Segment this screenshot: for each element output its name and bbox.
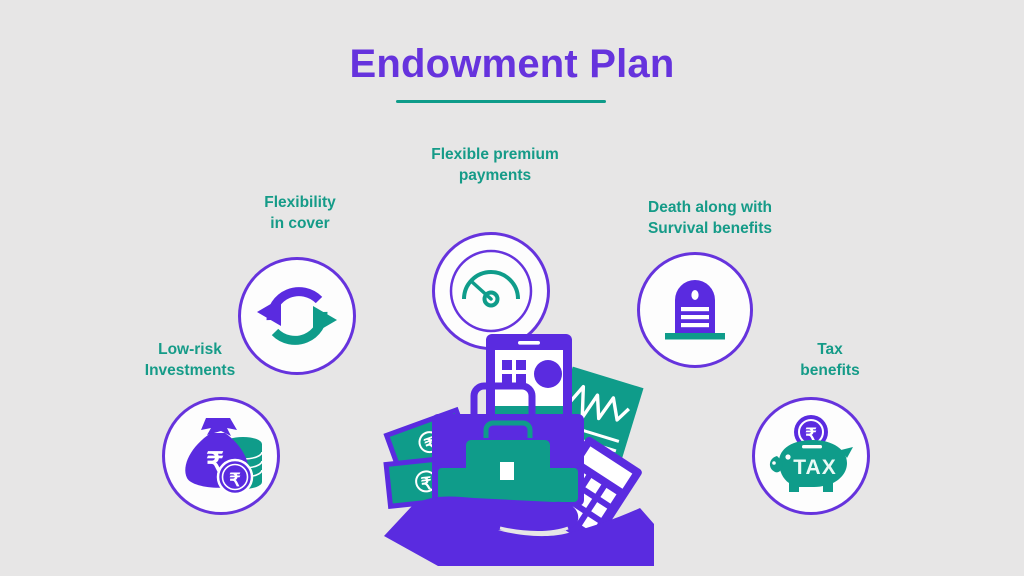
- money-bag-coins-icon: ₹ ₹: [165, 400, 277, 512]
- refresh-arrows-icon: [241, 260, 353, 372]
- center-illustration-hand-holding-assets: ₹ ₹: [378, 328, 654, 568]
- piggy-bank-icon: ₹ TAX: [755, 400, 867, 512]
- icon-bubble-low-risk-investments[interactable]: ₹ ₹: [162, 397, 280, 515]
- title-underline-divider: [396, 100, 606, 103]
- label-flexible-premium-payments: Flexible premium payments: [375, 145, 615, 187]
- icon-bubble-tax-benefits[interactable]: ₹ TAX: [752, 397, 870, 515]
- label-death-survival-benefits: Death along with Survival benefits: [605, 198, 815, 240]
- infographic-canvas: Endowment Plan Flexible premium payments…: [0, 0, 1024, 576]
- rupee-symbol-coin: ₹: [229, 470, 241, 490]
- svg-text:₹: ₹: [420, 474, 433, 494]
- tombstone-icon: [640, 255, 750, 365]
- page-title: Endowment Plan: [0, 42, 1024, 87]
- icon-bubble-flexibility-in-cover[interactable]: [238, 257, 356, 375]
- piggy-bank-tax-text: TAX: [793, 456, 836, 479]
- label-tax-benefits: Tax benefits: [760, 340, 900, 382]
- icon-bubble-death-survival-benefits[interactable]: [637, 252, 753, 368]
- label-flexibility-in-cover: Flexibility in cover: [225, 193, 375, 235]
